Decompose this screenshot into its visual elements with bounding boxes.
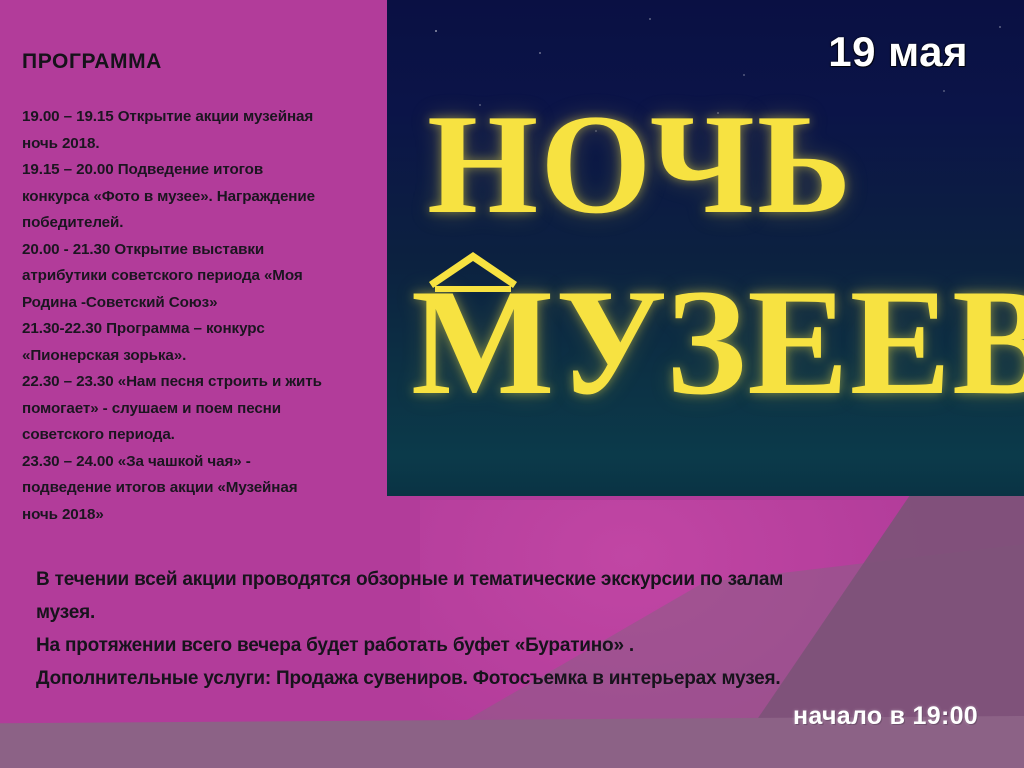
headline-muzeev: МУЗЕЕВ: [411, 266, 1024, 418]
program-line: 19.00 – 19.15 Открытие акции музейная: [22, 104, 382, 131]
program-line: помогает» - слушаем и поем песни: [22, 396, 382, 423]
program-line: атрибутики советского периода «Моя: [22, 263, 382, 290]
program-line: советского периода.: [22, 422, 382, 449]
poster-date: 19 мая: [828, 28, 968, 76]
program-line: «Пионерская зорька».: [22, 343, 382, 370]
slide-canvas: ПРОГРАММА 19.00 – 19.15 Открытие акции м…: [0, 0, 1024, 768]
program-line: ночь 2018»: [22, 502, 382, 529]
program-line: конкурса «Фото в музее». Награждение: [22, 184, 382, 211]
headline-noch: НОЧЬ: [427, 93, 853, 236]
program-line: 21.30-22.30 Программа – конкурс: [22, 316, 382, 343]
start-time-label: начало в 19:00: [793, 702, 978, 731]
headline-muzeev-group: МУЗЕЕВ: [411, 266, 1024, 418]
program-line: 22.30 – 23.30 «Нам песня строить и жить: [22, 369, 382, 396]
note-line: Дополнительные услуги: Продажа сувениров…: [36, 662, 966, 695]
program-line: 20.00 - 21.30 Открытие выставки: [22, 237, 382, 264]
program-line: ночь 2018.: [22, 131, 382, 158]
night-poster-panel: 19 мая НОЧЬ МУЗЕЕВ: [387, 0, 1024, 496]
program-line: 23.30 – 24.00 «За чашкой чая» -: [22, 449, 382, 476]
program-line: подведение итогов акции «Музейная: [22, 475, 382, 502]
program-column: ПРОГРАММА 19.00 – 19.15 Открытие акции м…: [22, 50, 382, 528]
note-line: музея.: [36, 596, 966, 629]
note-line: На протяжении всего вечера будет работат…: [36, 629, 966, 662]
program-line: 19.15 – 20.00 Подведение итогов: [22, 157, 382, 184]
program-title: ПРОГРАММА: [22, 50, 382, 74]
program-line: победителей.: [22, 210, 382, 237]
program-schedule-list: 19.00 – 19.15 Открытие акции музейная но…: [22, 104, 382, 528]
note-line: В течении всей акции проводятся обзорные…: [36, 563, 966, 596]
notes-block: В течении всей акции проводятся обзорные…: [36, 563, 966, 695]
program-line: Родина -Советский Союз»: [22, 290, 382, 317]
